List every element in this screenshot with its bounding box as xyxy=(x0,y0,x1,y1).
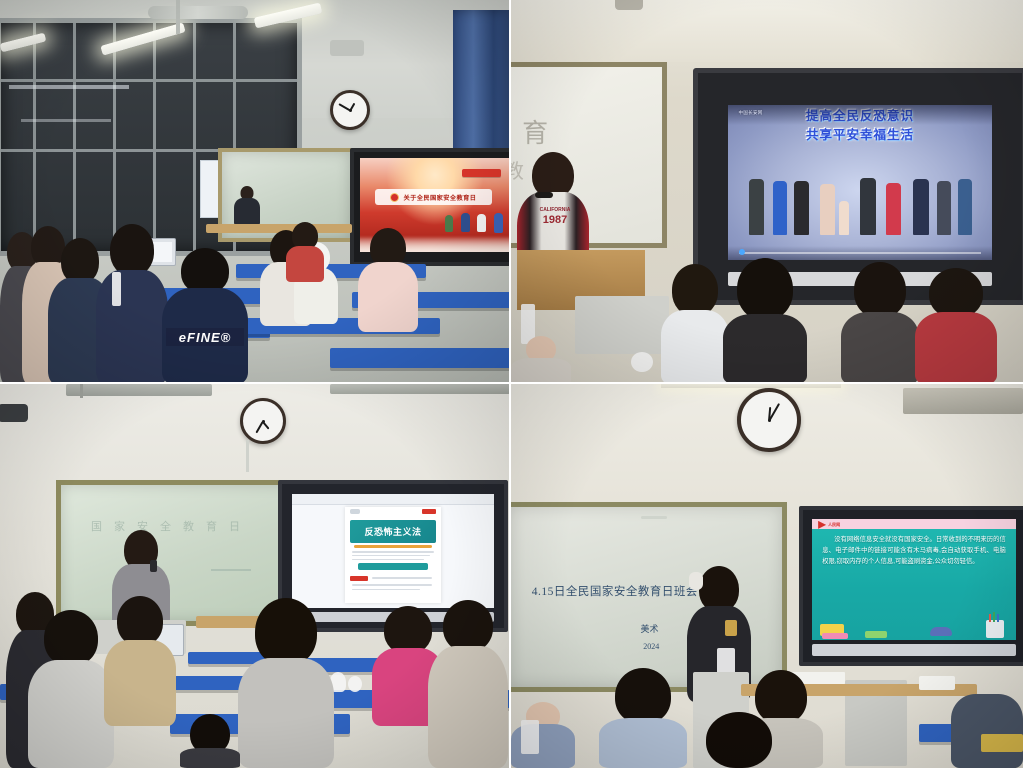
stationery xyxy=(981,734,1023,752)
clock-cord xyxy=(246,440,249,472)
student xyxy=(180,714,240,768)
ceiling-light xyxy=(330,384,510,394)
teacher xyxy=(234,186,260,226)
hoodie-line2: 1987 xyxy=(539,214,571,226)
slide-title-plate: 关于全民国家安全教育日 xyxy=(375,189,492,205)
video-figure xyxy=(937,181,952,235)
fan-rod xyxy=(176,0,180,34)
computer-tower xyxy=(575,296,669,354)
video-watermark: 中国长安网 xyxy=(739,110,763,116)
web-page: 反恐怖主义法 xyxy=(345,507,442,604)
student xyxy=(428,600,508,768)
chalkboard-main-text: 4.15日全民国家安全教育日班会 xyxy=(532,583,698,599)
slide-body-text: 没有网络信息安全就没有国家安全。日常收到的不明来历的信息、电子邮件中的链接可能含… xyxy=(822,534,1006,567)
chalkboard-signature: 美术 xyxy=(641,622,659,635)
eyeglasses-icon xyxy=(535,192,553,198)
student xyxy=(599,668,687,768)
presentation-slide: 人民网 没有网络信息安全就没有国家安全。日常收到的不明来历的信息、电子邮件中的链… xyxy=(812,519,1016,640)
slide-header-band xyxy=(812,519,1016,529)
video-figure xyxy=(860,178,876,235)
video-figure xyxy=(886,183,901,236)
student xyxy=(286,222,324,282)
video-subtitle-line2: 共享平安幸福生活 xyxy=(728,124,992,143)
photo-bottom-left: 国家安全教育日 反恐怖主义法 xyxy=(0,384,511,768)
photo-bottom-right: 4.15日全民国家安全教育日班会 美术 2024 人民网 没有网络信息安全就没有… xyxy=(511,384,1023,768)
ceiling-fixture xyxy=(615,0,643,10)
mobile-phone[interactable] xyxy=(150,560,157,572)
law-banner-title: 反恐怖主义法 xyxy=(364,525,421,538)
hoodie-logo-band: eFINE® xyxy=(166,328,244,346)
photo-collage: 关于全民国家安全教育日 xyxy=(0,0,1023,768)
photo-top-left: 关于全民国家安全教育日 xyxy=(0,0,511,384)
ceiling-light xyxy=(903,388,1023,414)
student-desk xyxy=(330,348,511,368)
video-progress-bar[interactable] xyxy=(739,252,982,254)
cup xyxy=(348,676,362,692)
student xyxy=(162,248,248,384)
chalkboard-year: 2024 xyxy=(643,642,659,651)
display-screen: 人民网 没有网络信息安全就没有国家安全。日常收到的不明来历的信息、电子邮件中的链… xyxy=(799,506,1023,666)
browser-toolbar[interactable] xyxy=(292,494,494,505)
light-rod xyxy=(80,384,83,398)
video-figure xyxy=(913,179,929,235)
student xyxy=(238,598,334,768)
slide-logo-text: 人民网 xyxy=(828,522,840,528)
student xyxy=(358,228,418,332)
badge xyxy=(725,620,737,636)
apparel-text: eFINE® xyxy=(179,330,231,345)
tissue-box xyxy=(919,676,955,690)
video-figure xyxy=(773,181,788,235)
student xyxy=(951,694,1023,768)
ceiling-light xyxy=(661,384,841,388)
chalk-eraser xyxy=(641,516,667,519)
notebook-icon xyxy=(865,631,887,638)
site-badge xyxy=(422,509,436,514)
slide-title-text: 关于全民国家安全教育日 xyxy=(403,192,476,202)
emblem-icon xyxy=(390,193,399,202)
hoodie-line1: CALIFORNIA xyxy=(539,208,571,214)
photo-top-right: 育 教 中国长安网 提高全民反恐意识 共享平安幸福生活 xyxy=(511,0,1023,384)
wall-clock xyxy=(330,90,370,130)
water-bottle xyxy=(521,720,539,754)
student xyxy=(28,610,114,768)
video-progress-handle[interactable] xyxy=(739,249,745,255)
video-figure xyxy=(958,179,973,235)
student xyxy=(104,596,176,726)
site-logo xyxy=(350,509,360,514)
play-mark-icon xyxy=(818,521,826,529)
slide-ribbon xyxy=(462,169,501,177)
video-figure xyxy=(749,179,764,235)
ceiling-fan xyxy=(148,6,248,19)
student xyxy=(723,258,807,384)
browser-window: 反恐怖主义法 xyxy=(292,494,494,608)
student xyxy=(915,268,997,384)
eyeglasses-icon xyxy=(930,627,952,636)
projector xyxy=(0,404,28,422)
student xyxy=(689,712,789,768)
red-tag xyxy=(350,576,367,581)
video-figure xyxy=(794,181,809,235)
student xyxy=(661,264,729,384)
cup xyxy=(631,352,653,372)
ceiling-light xyxy=(66,384,212,396)
video-player: 中国长安网 提高全民反恐意识 共享平安幸福生活 xyxy=(728,105,992,260)
slide-logo: 人民网 xyxy=(818,521,840,529)
hair-tie xyxy=(689,572,703,590)
accent-underline xyxy=(354,545,432,548)
student xyxy=(96,224,168,384)
video-figure xyxy=(839,201,850,235)
student xyxy=(511,336,571,384)
hoodie-text: CALIFORNIA 1987 xyxy=(539,208,571,238)
notebook-icon xyxy=(822,633,848,639)
primary-button[interactable] xyxy=(358,563,428,570)
water-bottle xyxy=(112,272,121,306)
pen-holder-icon xyxy=(986,620,1004,638)
law-banner: 反恐怖主义法 xyxy=(350,520,435,543)
video-figure xyxy=(820,184,835,235)
wall-clock xyxy=(737,388,801,452)
screen-control-strip[interactable] xyxy=(812,644,1016,656)
wall-clock xyxy=(240,398,286,444)
notice-sheet xyxy=(200,160,220,218)
ceiling xyxy=(511,0,1023,62)
student xyxy=(841,262,919,384)
wall-speaker xyxy=(330,40,364,56)
